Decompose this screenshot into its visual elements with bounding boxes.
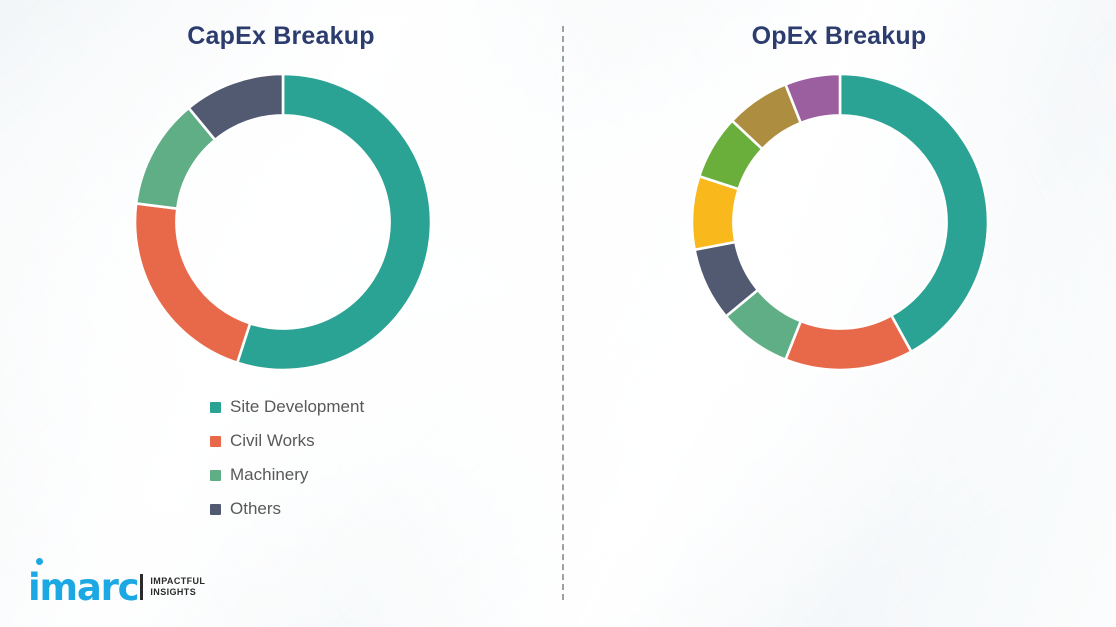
opex-donut-chart: Raw Materials: 42%Salaries and Wages: 14… [690, 72, 990, 372]
capex-legend-item[interactable]: Others [210, 492, 364, 526]
capex-legend-item[interactable]: Site Development [210, 390, 364, 424]
capex-panel: CapEx Breakup Site Development: 55%Civil… [0, 0, 562, 627]
opex-donut-svg: Raw Materials: 42%Salaries and Wages: 14… [690, 72, 990, 372]
capex-donut-svg: Site Development: 55%Civil Works: 22%Mac… [133, 72, 433, 372]
imarc-logo-dot [36, 558, 43, 565]
capex-legend-item[interactable]: Machinery [210, 458, 364, 492]
imarc-tagline-line2: INSIGHTS [150, 587, 205, 598]
capex-legend-label: Civil Works [230, 431, 315, 451]
imarc-logo-divider-bar [140, 574, 143, 600]
imarc-wordmark: imarc [28, 569, 138, 606]
imarc-tagline: IMPACTFUL INSIGHTS [150, 576, 205, 599]
opex-panel: OpEx Breakup Raw Materials: 42%Salaries … [562, 0, 1116, 627]
legend-color-swatch-icon [210, 402, 221, 413]
capex-slice[interactable]: Civil Works: 22% [135, 203, 250, 362]
capex-slice-group: Site Development: 55%Civil Works: 22%Mac… [135, 74, 431, 370]
capex-legend-label: Site Development [230, 397, 364, 417]
legend-color-swatch-icon [210, 470, 221, 481]
imarc-tagline-line1: IMPACTFUL [150, 576, 205, 587]
capex-legend: Site DevelopmentCivil WorksMachineryOthe… [210, 390, 364, 526]
imarc-wordmark-text: imarc [28, 566, 138, 609]
opex-slice[interactable]: Raw Materials: 42% [840, 74, 988, 352]
imarc-logo: imarc IMPACTFUL INSIGHTS [28, 566, 205, 608]
capex-legend-label: Machinery [230, 465, 308, 485]
opex-slice[interactable]: Salaries and Wages: 14% [786, 315, 912, 370]
legend-color-swatch-icon [210, 436, 221, 447]
opex-slice-group: Raw Materials: 42%Salaries and Wages: 14… [692, 74, 988, 370]
capex-donut-chart: Site Development: 55%Civil Works: 22%Mac… [133, 72, 433, 372]
panel-divider [562, 26, 564, 600]
capex-legend-label: Others [230, 499, 281, 519]
opex-title: OpEx Breakup [562, 22, 1116, 51]
capex-legend-item[interactable]: Civil Works [210, 424, 364, 458]
capex-slice[interactable]: Site Development: 55% [237, 74, 431, 370]
legend-color-swatch-icon [210, 504, 221, 515]
capex-title: CapEx Breakup [0, 22, 562, 51]
